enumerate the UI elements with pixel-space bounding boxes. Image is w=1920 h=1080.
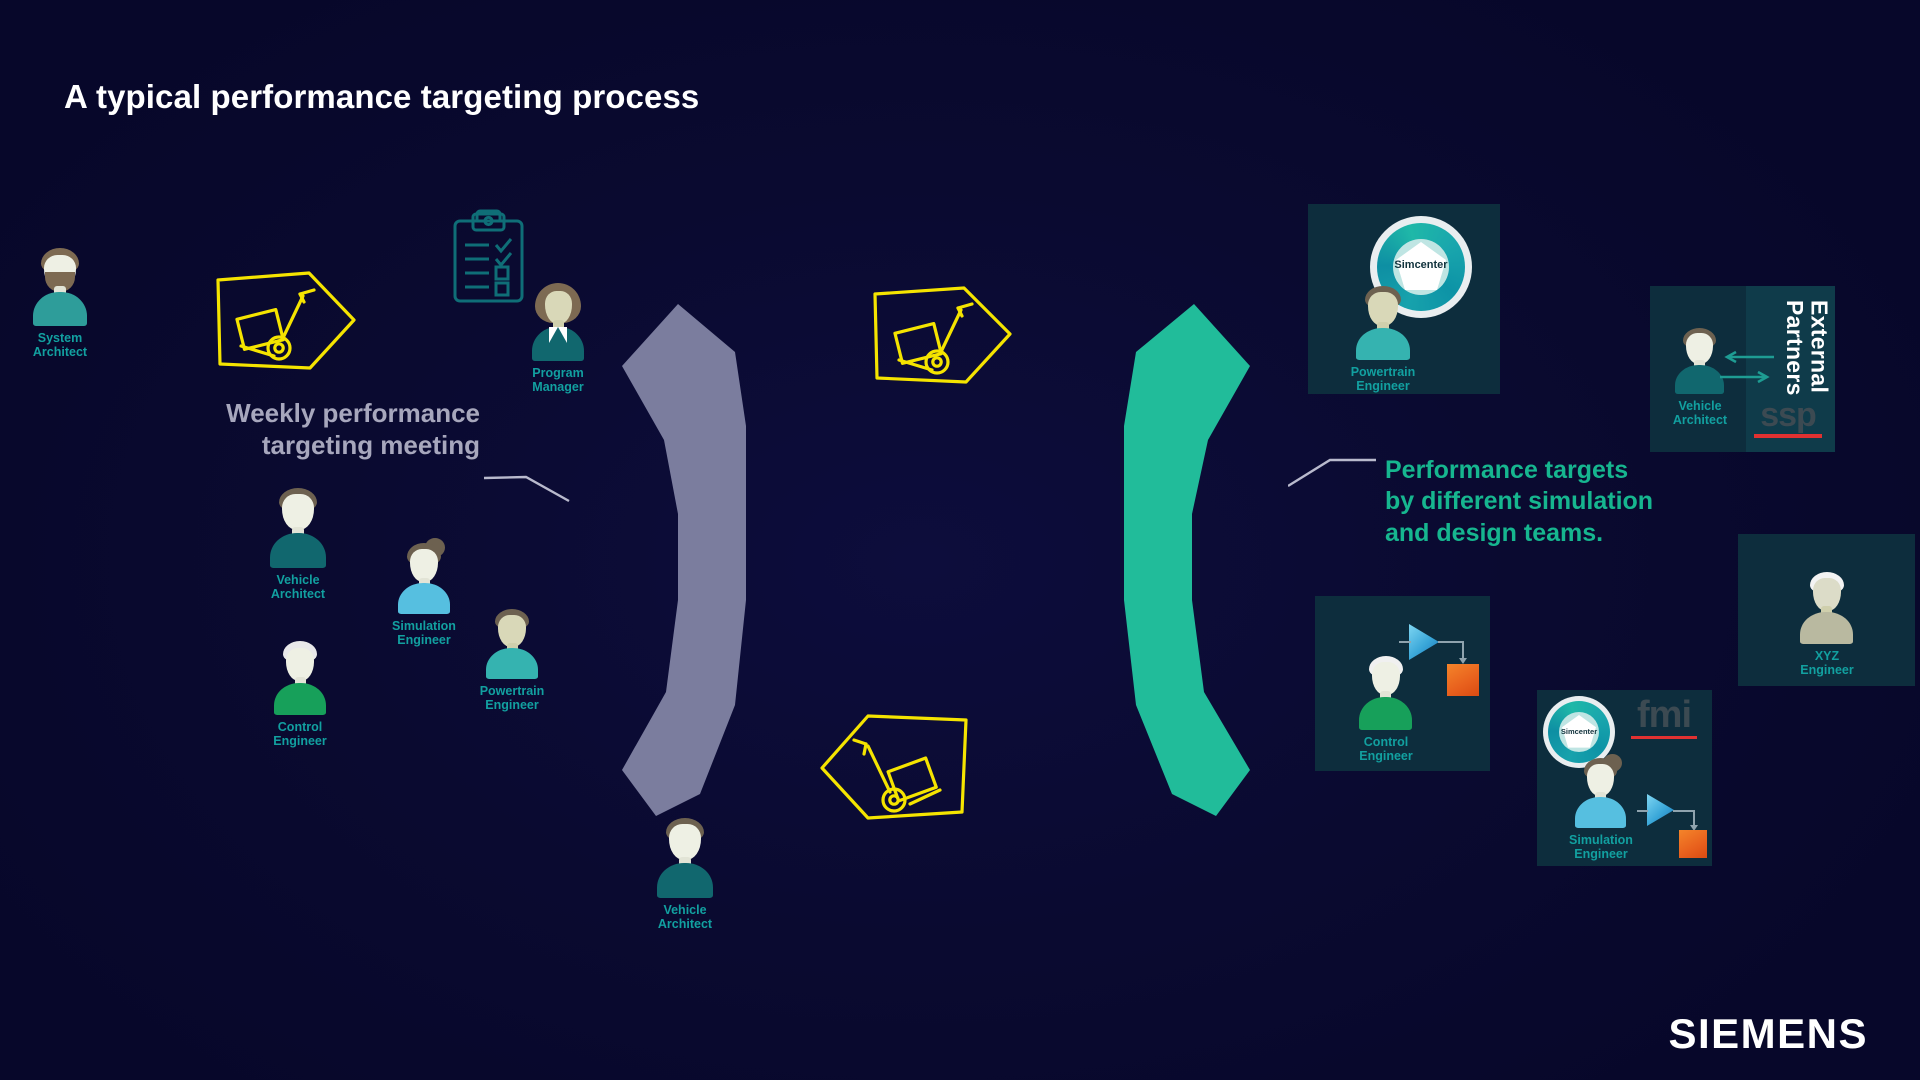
callout-weekly-meeting: Weekly performance targeting meeting <box>120 398 480 461</box>
person-label: Control Engineer <box>1333 735 1439 763</box>
torso <box>1575 797 1626 828</box>
person-powertrain-engineer-left[interactable]: Powertrain Engineer <box>452 609 572 712</box>
panel-xyz-engineer[interactable]: XYZ Engineer <box>1738 534 1915 686</box>
fmi-logo-rule <box>1631 736 1697 739</box>
ssp-logo-rule <box>1754 434 1822 438</box>
sketch-arrow-top-right <box>872 284 1018 390</box>
person-label: Program Manager <box>498 366 618 394</box>
face <box>282 494 314 530</box>
collar-left <box>549 327 558 343</box>
person-label: Vehicle Architect <box>1654 399 1746 427</box>
person-label: XYZ Engineer <box>1774 649 1880 677</box>
badge-label: Simcenter <box>1543 727 1615 736</box>
person-label: System Architect <box>0 331 120 359</box>
sketch-arrow-bottom <box>818 712 972 822</box>
hand-truck-icon <box>237 290 314 359</box>
person-vehicle-architect-bottom[interactable]: Vehicle Architect <box>625 818 745 931</box>
torso <box>486 648 538 679</box>
connector-left <box>484 462 574 506</box>
block-diagram-icon <box>1645 794 1715 856</box>
person-label: Simulation Engineer <box>1551 833 1651 861</box>
sketch-arrow-top-left <box>214 268 360 376</box>
person-control-engineer-left[interactable]: Control Engineer <box>240 641 360 748</box>
badge-label: Simcenter <box>1370 259 1472 271</box>
block-square-icon <box>1447 664 1479 696</box>
gain-triangle-icon <box>1409 624 1439 660</box>
person-label: Vehicle Architect <box>625 903 745 931</box>
person-powertrain-engineer[interactable]: Powertrain Engineer <box>1330 286 1436 393</box>
ssp-logo-text: ssp <box>1754 398 1822 432</box>
person-system-architect[interactable]: System Architect <box>0 248 120 359</box>
right-arc <box>1068 300 1308 820</box>
torso <box>1359 697 1412 730</box>
ssp-logo: ssp <box>1754 398 1822 438</box>
wire-out-v <box>1693 810 1695 826</box>
person-vehicle-architect-left[interactable]: Vehicle Architect <box>238 488 358 601</box>
hand-truck-icon <box>895 304 972 373</box>
person-control-engineer[interactable]: Control Engineer <box>1333 656 1439 763</box>
siemens-logo: SIEMENS <box>1668 1010 1868 1058</box>
person-label: Vehicle Architect <box>238 573 358 601</box>
page-title: A typical performance targeting process <box>64 78 699 116</box>
fmi-logo-text: fmi <box>1631 696 1697 734</box>
connector-right <box>1288 452 1378 492</box>
torso <box>1800 612 1853 644</box>
person-simulation-engineer[interactable]: Simulation Engineer <box>1551 756 1651 861</box>
torso <box>1356 328 1410 360</box>
slide-canvas: A typical performance targeting process <box>0 0 1920 1080</box>
torso <box>270 533 326 568</box>
hand-truck-icon <box>854 740 940 811</box>
callout-performance-targets: Performance targets by different simulat… <box>1385 455 1745 549</box>
panel-simulation-engineer[interactable]: Simcenter fmi Simulation Engineer <box>1537 690 1712 866</box>
panel-external-partners[interactable]: Vehicle Architect External Partners ssp <box>1650 286 1835 452</box>
person-xyz-engineer[interactable]: XYZ Engineer <box>1774 572 1880 677</box>
panel-powertrain-engineer[interactable]: Simcenter Powertrain Engineer <box>1308 204 1500 394</box>
person-program-manager[interactable]: Program Manager <box>498 283 618 394</box>
wire-out-h <box>1438 641 1464 643</box>
collar-right <box>558 327 567 343</box>
gain-triangle-icon <box>1647 794 1674 826</box>
fmi-logo: fmi <box>1631 696 1697 739</box>
wire-out-v <box>1462 641 1464 659</box>
person-label: Control Engineer <box>240 720 360 748</box>
person-label: Powertrain Engineer <box>452 684 572 712</box>
torso <box>398 583 450 614</box>
torso <box>274 683 326 715</box>
wire-in <box>1399 641 1411 643</box>
panel-control-engineer[interactable]: Control Engineer <box>1315 596 1490 771</box>
torso <box>1675 365 1724 394</box>
torso <box>33 292 87 326</box>
face <box>1368 292 1398 326</box>
exchange-arrows-icon <box>1718 350 1776 388</box>
wire-out-h <box>1673 810 1695 812</box>
person-label: Powertrain Engineer <box>1330 365 1436 393</box>
block-square-icon <box>1679 830 1707 858</box>
face <box>669 824 701 860</box>
torso <box>657 863 713 898</box>
